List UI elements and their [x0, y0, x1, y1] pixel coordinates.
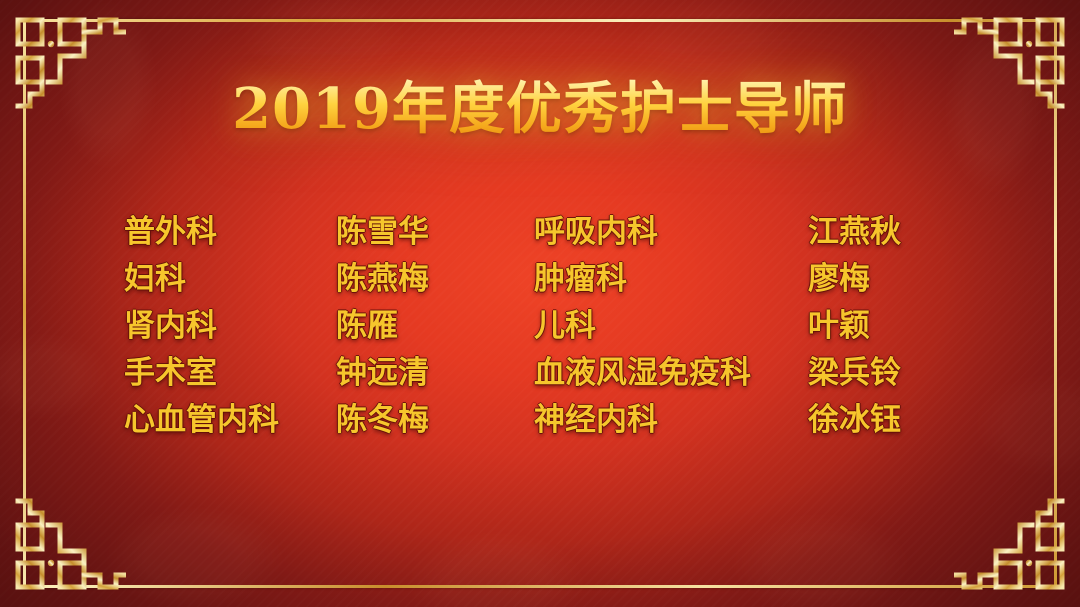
nurse-name: 陈雁	[336, 309, 534, 343]
department-name: 神经内科	[534, 403, 808, 437]
nurse-name: 叶颖	[808, 309, 944, 343]
nurse-name: 钟远清	[336, 356, 534, 390]
award-slide: 2019年度优秀护士导师 普外科 陈雪华 呼吸内科 江燕秋 妇科 陈燕梅 肿瘤科…	[0, 0, 1080, 607]
department-name: 儿科	[534, 309, 808, 343]
awardee-roster: 普外科 陈雪华 呼吸内科 江燕秋 妇科 陈燕梅 肿瘤科 廖梅 肾内科 陈雁 儿科…	[124, 208, 944, 443]
nurse-name: 江燕秋	[808, 215, 944, 249]
table-row: 普外科 陈雪华 呼吸内科 江燕秋	[124, 208, 944, 255]
department-name: 心血管内科	[124, 403, 336, 437]
department-name: 肿瘤科	[534, 262, 808, 296]
department-name: 手术室	[124, 356, 336, 390]
nurse-name: 徐冰钰	[808, 403, 944, 437]
department-name: 普外科	[124, 215, 336, 249]
nurse-name: 陈雪华	[336, 215, 534, 249]
nurse-name: 梁兵铃	[808, 356, 944, 390]
department-name: 肾内科	[124, 309, 336, 343]
department-name: 妇科	[124, 262, 336, 296]
nurse-name: 陈燕梅	[336, 262, 534, 296]
table-row: 妇科 陈燕梅 肿瘤科 廖梅	[124, 255, 944, 302]
nurse-name: 廖梅	[808, 262, 944, 296]
table-row: 心血管内科 陈冬梅 神经内科 徐冰钰	[124, 396, 944, 443]
slide-title: 2019年度优秀护士导师	[0, 78, 1080, 140]
department-name: 呼吸内科	[534, 215, 808, 249]
table-row: 手术室 钟远清 血液风湿免疫科 梁兵铃	[124, 349, 944, 396]
department-name: 血液风湿免疫科	[534, 356, 808, 390]
table-row: 肾内科 陈雁 儿科 叶颖	[124, 302, 944, 349]
nurse-name: 陈冬梅	[336, 403, 534, 437]
